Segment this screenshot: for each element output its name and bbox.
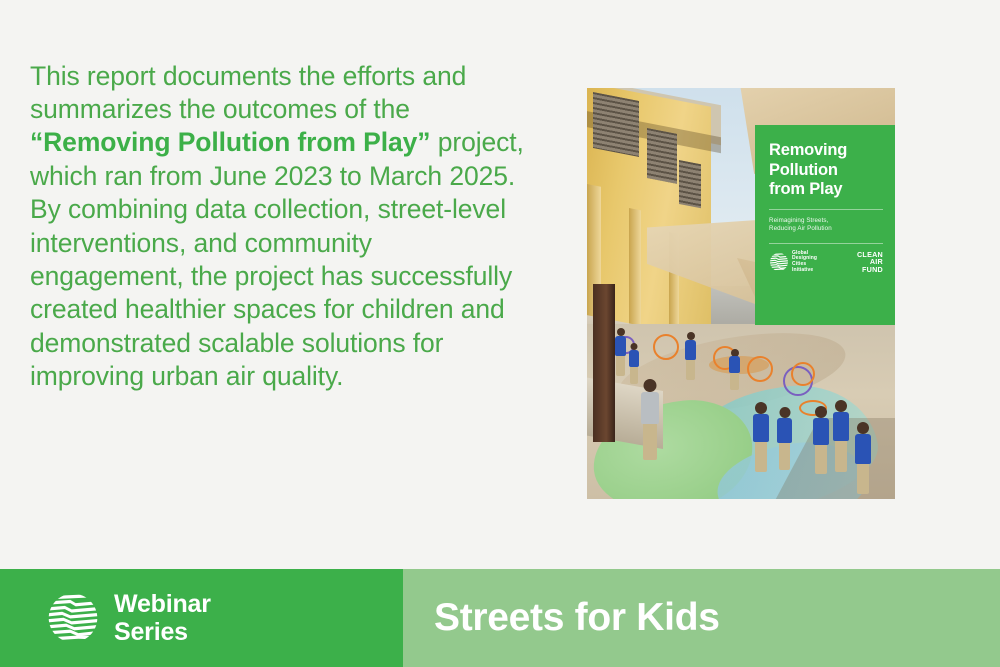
body-text-bold-phrase: “Removing Pollution from Play”: [30, 127, 430, 157]
report-photo: Removing Pollution from Play Reimagining…: [587, 88, 895, 499]
gdci-logo-lockup: Global Designing Cities Initiative: [769, 251, 817, 273]
child-head: [617, 328, 625, 336]
child-torso: [729, 356, 740, 373]
child: [685, 340, 696, 380]
child-torso: [615, 336, 626, 356]
child-legs: [616, 356, 624, 376]
webinar-series-label: Webinar Series: [114, 590, 211, 646]
window-louvre: [593, 92, 639, 157]
hula-hoop: [791, 362, 815, 386]
window-louvre: [647, 128, 677, 184]
child-torso: [753, 414, 769, 442]
cover-subtitle: Reimagining Streets, Reducing Air Pollut…: [769, 217, 883, 234]
child-legs: [779, 443, 790, 470]
adult-head: [644, 379, 657, 392]
child: [833, 412, 849, 472]
body-paragraph: This report documents the efforts and su…: [30, 60, 530, 394]
cover-divider-bottom: [769, 243, 883, 244]
hula-hoop: [653, 334, 679, 360]
child-legs: [857, 464, 869, 494]
child: [777, 418, 792, 470]
child: [615, 336, 626, 376]
child-head: [755, 402, 767, 414]
adult-supervisor: [641, 392, 659, 460]
veranda-post: [593, 284, 615, 442]
body-text-before-bold: This report documents the efforts and su…: [30, 61, 466, 124]
child-legs: [630, 367, 638, 384]
clean-air-fund-logo-text: CLEAN AIR FUND: [857, 251, 883, 274]
building-column: [629, 208, 641, 340]
window-louvre: [679, 160, 701, 208]
child-head: [687, 332, 695, 340]
child: [855, 434, 871, 494]
child-torso: [813, 418, 829, 445]
photo-scene: Removing Pollution from Play Reimagining…: [587, 88, 895, 499]
child-torso: [855, 434, 871, 464]
child-legs: [686, 360, 694, 380]
footer-bar: Webinar Series Streets for Kids: [0, 569, 1000, 667]
hula-hoop: [747, 356, 773, 382]
body-text-after-bold: project, which ran from June 2023 to Mar…: [30, 127, 524, 391]
cover-card-inner: Removing Pollution from Play Reimagining…: [769, 141, 883, 313]
cover-title: Removing Pollution from Play: [769, 141, 883, 200]
gdci-globe-icon: [46, 591, 100, 645]
child: [753, 414, 769, 472]
child: [729, 356, 740, 390]
child-torso: [833, 412, 849, 441]
adult-legs: [643, 424, 657, 460]
child: [813, 418, 829, 474]
child-legs: [815, 445, 827, 474]
child-head: [835, 400, 847, 412]
adult-torso: [641, 392, 659, 424]
gdci-logo-text: Global Designing Cities Initiative: [792, 251, 817, 273]
footer-brand-block: Webinar Series: [0, 569, 403, 667]
child-torso: [685, 340, 696, 360]
child: [629, 350, 639, 384]
child-legs: [835, 441, 847, 472]
child-head: [631, 343, 638, 350]
gdci-globe-icon: [769, 252, 789, 272]
cover-logo-row: Global Designing Cities Initiative CLEAN…: [769, 251, 883, 274]
child-torso: [777, 418, 792, 443]
child-legs: [730, 373, 738, 390]
child-torso: [629, 350, 639, 367]
streets-for-kids-title: Streets for Kids: [434, 596, 720, 640]
child-head: [779, 407, 790, 418]
report-cover-card: Removing Pollution from Play Reimagining…: [755, 125, 895, 325]
child-head: [815, 406, 827, 418]
child-head: [857, 422, 869, 434]
cover-divider-top: [769, 209, 883, 210]
child-legs: [755, 442, 767, 472]
slide-canvas: This report documents the efforts and su…: [0, 0, 1000, 667]
footer-title-block: Streets for Kids: [403, 569, 1000, 667]
